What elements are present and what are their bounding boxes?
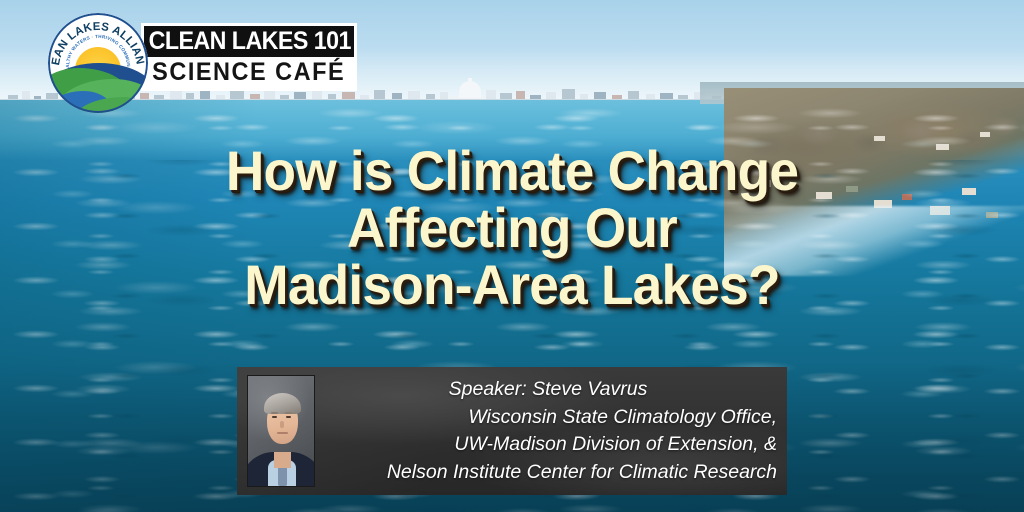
capitol-dome (459, 81, 481, 98)
clean-lakes-alliance-seal-icon: CLEAN LAKES ALLIANCE HEALTHY WATERS · TH… (48, 13, 148, 113)
speaker-info-panel: Speaker: Steve Vavrus Wisconsin State Cl… (237, 367, 787, 495)
speaker-line-3: UW-Madison Division of Extension, & (454, 431, 777, 459)
portrait-frame (237, 367, 315, 495)
speaker-details: Speaker: Steve Vavrus Wisconsin State Cl… (315, 367, 787, 495)
wordmark-line-1: CLEAN LAKES 101 (149, 29, 351, 54)
headline-line-3: Madison-Area Lakes? (26, 257, 999, 312)
wordmark-science-cafe-row: SCIENCE CAFÉ (144, 57, 354, 87)
speaker-line-2: Wisconsin State Climatology Office, (468, 404, 777, 432)
speaker-line-4: Nelson Institute Center for Climatic Res… (387, 459, 777, 487)
speaker-line-1: Speaker: Steve Vavrus (449, 376, 648, 404)
poster-canvas: CLEAN LAKES 101 SCIENCE CAFÉ (0, 0, 1024, 512)
wordmark-line-2: SCIENCE CAFÉ (152, 60, 345, 85)
brand-lockup: CLEAN LAKES 101 SCIENCE CAFÉ (48, 13, 360, 103)
wordmark-box: CLEAN LAKES 101 SCIENCE CAFÉ (141, 23, 357, 91)
headline-line-2: Affecting Our (26, 200, 999, 255)
speaker-headshot (247, 375, 315, 487)
wordmark-clean-lakes-101-bar: CLEAN LAKES 101 (144, 26, 354, 57)
page-title: How is Climate Change Affecting Our Madi… (0, 143, 1024, 312)
headline-line-1: How is Climate Change (26, 143, 999, 198)
